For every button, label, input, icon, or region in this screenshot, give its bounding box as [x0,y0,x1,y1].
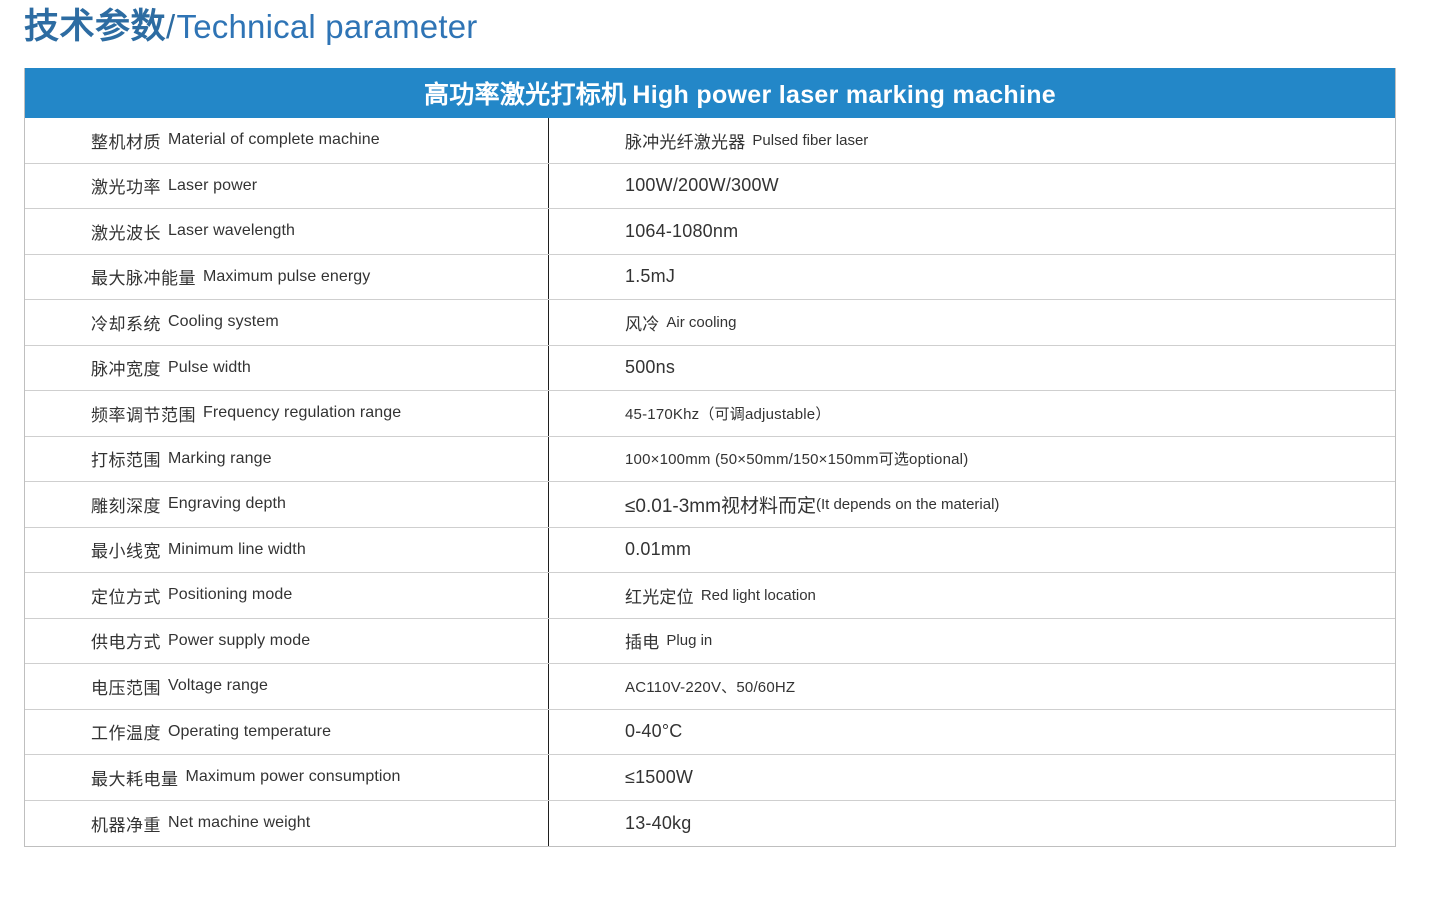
spec-value-chinese: 脉冲光纤激光器 [625,128,745,153]
table-row: 最大脉冲能量Maximum pulse energy1.5mJ [25,255,1395,301]
spec-label-english: Operating temperature [168,723,331,741]
spec-value-cell: ≤0.01-3mm视材料而定(It depends on the materia… [549,482,1395,527]
table-row: 脉冲宽度Pulse width500ns [25,346,1395,392]
spec-label-cell: 最大耗电量Maximum power consumption [25,755,549,800]
spec-label-english: Cooling system [168,313,279,331]
spec-label-chinese: 工作温度 [91,719,161,744]
spec-value-cell: AC110V-220V、50/60HZ [549,664,1395,709]
spec-value-cell: ≤1500W [549,755,1395,800]
spec-label-chinese: 激光功率 [91,173,161,198]
table-header-title-english: High power laser marking machine [632,81,1056,109]
table-header-title: 高功率激光打标机High power laser marking machine [364,75,1056,111]
spec-value-text: 500ns [625,357,675,378]
table-row: 定位方式Positioning mode红光定位Red light locati… [25,573,1395,619]
spec-value-cell: 45-170Khz（可调adjustable） [549,391,1395,436]
spec-label-chinese: 最大耗电量 [91,765,179,790]
spec-label-cell: 打标范围Marking range [25,437,549,482]
spec-label-chinese: 供电方式 [91,628,161,653]
spec-label-chinese: 激光波长 [91,219,161,244]
table-row: 工作温度Operating temperature0-40°C [25,710,1395,756]
spec-value-text: 1.5mJ [625,266,675,287]
table-header-bar: 高功率激光打标机High power laser marking machine [25,68,1395,118]
spec-value-cell: 红光定位Red light location [549,573,1395,618]
spec-label-chinese: 最大脉冲能量 [91,264,196,289]
spec-value-english: Air cooling [666,314,736,331]
spec-label-english: Laser power [168,177,257,195]
spec-value-chinese: 风冷 [625,310,659,335]
spec-label-english: Marking range [168,450,272,468]
spec-value-note: (It depends on the material) [816,496,999,513]
spec-value-chinese: 红光定位 [625,583,694,608]
spec-label-cell: 最小线宽Minimum line width [25,528,549,573]
spec-value-cell: 13-40kg [549,801,1395,847]
spec-label-english: Frequency regulation range [203,404,401,422]
spec-label-english: Material of complete machine [168,131,380,149]
spec-label-chinese: 脉冲宽度 [91,355,161,380]
table-row: 最小线宽Minimum line width0.01mm [25,528,1395,574]
spec-label-english: Engraving depth [168,495,286,513]
spec-label-cell: 定位方式Positioning mode [25,573,549,618]
spec-label-cell: 整机材质Material of complete machine [25,118,549,163]
spec-value-cell: 风冷Air cooling [549,300,1395,345]
table-header-title-chinese: 高功率激光打标机 [424,81,626,109]
spec-label-english: Net machine weight [168,814,310,832]
spec-value-text: AC110V-220V、50/60HZ [625,676,795,697]
spec-value-main: ≤0.01-3mm视材料而定 [625,491,816,518]
spec-label-cell: 雕刻深度Engraving depth [25,482,549,527]
page-title-english: Technical parameter [177,8,478,45]
spec-value-english: Red light location [701,587,816,604]
spec-label-cell: 频率调节范围Frequency regulation range [25,391,549,436]
spec-value-cell: 500ns [549,346,1395,391]
table-row: 整机材质Material of complete machine脉冲光纤激光器P… [25,118,1395,164]
spec-value-text: 0.01mm [625,539,691,560]
spec-label-chinese: 定位方式 [91,583,161,608]
table-row: 最大耗电量Maximum power consumption≤1500W [25,755,1395,801]
spec-label-cell: 工作温度Operating temperature [25,710,549,755]
spec-label-english: Laser wavelength [168,222,295,240]
spec-label-cell: 电压范围Voltage range [25,664,549,709]
spec-label-cell: 机器净重Net machine weight [25,801,549,847]
spec-label-cell: 激光功率Laser power [25,164,549,209]
spec-label-english: Maximum power consumption [186,768,401,786]
table-row: 机器净重Net machine weight13-40kg [25,801,1395,847]
table-row: 激光功率Laser power100W/200W/300W [25,164,1395,210]
spec-value-text: 45-170Khz（可调adjustable） [625,403,831,424]
spec-value-cell: 0.01mm [549,528,1395,573]
spec-value-cell: 100W/200W/300W [549,164,1395,209]
spec-label-cell: 冷却系统Cooling system [25,300,549,345]
spec-label-english: Positioning mode [168,586,292,604]
spec-label-chinese: 频率调节范围 [91,401,196,426]
table-row: 频率调节范围Frequency regulation range45-170Kh… [25,391,1395,437]
spec-value-text: ≤1500W [625,767,693,788]
table-row: 激光波长Laser wavelength1064-1080nm [25,209,1395,255]
spec-value-chinese: 插电 [625,628,659,653]
spec-label-chinese: 整机材质 [91,128,161,153]
table-row: 冷却系统Cooling system风冷Air cooling [25,300,1395,346]
spec-sheet-page: 技术参数/ Technical parameter 高功率激光打标机High p… [0,0,1454,910]
spec-label-chinese: 电压范围 [91,674,161,699]
spec-value-cell: 100×100mm (50×50mm/150×150mm可选optional) [549,437,1395,482]
spec-value-english: Pulsed fiber laser [752,132,868,149]
page-title: 技术参数/ Technical parameter [24,6,477,48]
spec-label-english: Pulse width [168,359,251,377]
spec-value-text: 100×100mm (50×50mm/150×150mm可选optional) [625,448,968,469]
spec-value-english: Plug in [666,632,712,649]
spec-label-cell: 脉冲宽度Pulse width [25,346,549,391]
spec-label-chinese: 冷却系统 [91,310,161,335]
specification-table: 高功率激光打标机High power laser marking machine… [24,68,1396,847]
table-row: 供电方式Power supply mode插电Plug in [25,619,1395,665]
spec-value-cell: 脉冲光纤激光器Pulsed fiber laser [549,118,1395,163]
spec-value-cell: 插电Plug in [549,619,1395,664]
table-row: 电压范围Voltage rangeAC110V-220V、50/60HZ [25,664,1395,710]
spec-value-text: 1064-1080nm [625,221,738,242]
page-title-separator: / [166,8,175,45]
spec-value-cell: 1064-1080nm [549,209,1395,254]
spec-value-text: 100W/200W/300W [625,175,779,196]
spec-value-cell: 1.5mJ [549,255,1395,300]
spec-label-chinese: 最小线宽 [91,537,161,562]
table-row: 雕刻深度Engraving depth≤0.01-3mm视材料而定(It dep… [25,482,1395,528]
spec-label-chinese: 机器净重 [91,811,161,836]
spec-label-english: Maximum pulse energy [203,268,370,286]
spec-label-english: Voltage range [168,677,268,695]
spec-label-cell: 供电方式Power supply mode [25,619,549,664]
spec-label-chinese: 打标范围 [91,446,161,471]
spec-label-english: Power supply mode [168,632,310,650]
spec-value-text: 0-40°C [625,721,682,742]
spec-label-cell: 激光波长Laser wavelength [25,209,549,254]
spec-value-cell: 0-40°C [549,710,1395,755]
page-title-chinese: 技术参数 [24,7,166,46]
spec-label-english: Minimum line width [168,541,306,559]
spec-value-text: 13-40kg [625,813,691,834]
spec-label-chinese: 雕刻深度 [91,492,161,517]
spec-label-cell: 最大脉冲能量Maximum pulse energy [25,255,549,300]
table-row: 打标范围Marking range100×100mm (50×50mm/150×… [25,437,1395,483]
table-body: 整机材质Material of complete machine脉冲光纤激光器P… [25,118,1395,846]
